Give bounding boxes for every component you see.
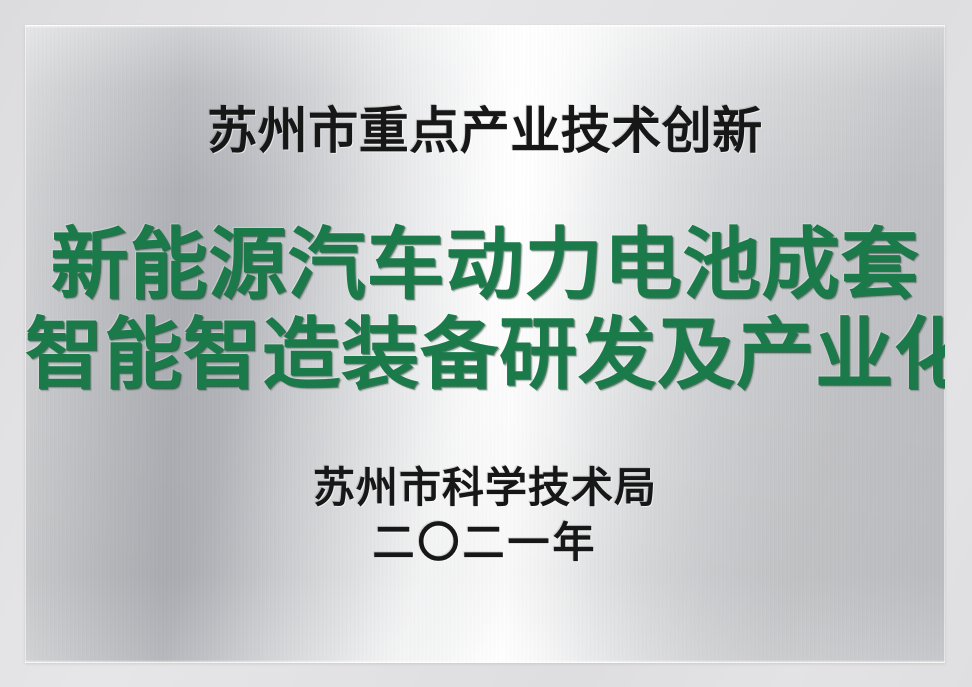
plaque-title-line-2: 智能智造装备研发及产业化 [25,313,945,395]
plaque-issuer-text: 苏州市科学技术局 [25,465,945,511]
plaque-title-line-1: 新能源汽车动力电池成套 [25,223,945,305]
plaque-header-text: 苏州市重点产业技术创新 [25,105,945,157]
award-plaque: 苏州市重点产业技术创新 新能源汽车动力电池成套 智能智造装备研发及产业化 苏州市… [25,25,945,663]
page-background: 苏州市重点产业技术创新 新能源汽车动力电池成套 智能智造装备研发及产业化 苏州市… [0,0,972,687]
plaque-year-text: 二〇二一年 [25,520,945,566]
plaque-content: 苏州市重点产业技术创新 新能源汽车动力电池成套 智能智造装备研发及产业化 苏州市… [25,25,945,663]
